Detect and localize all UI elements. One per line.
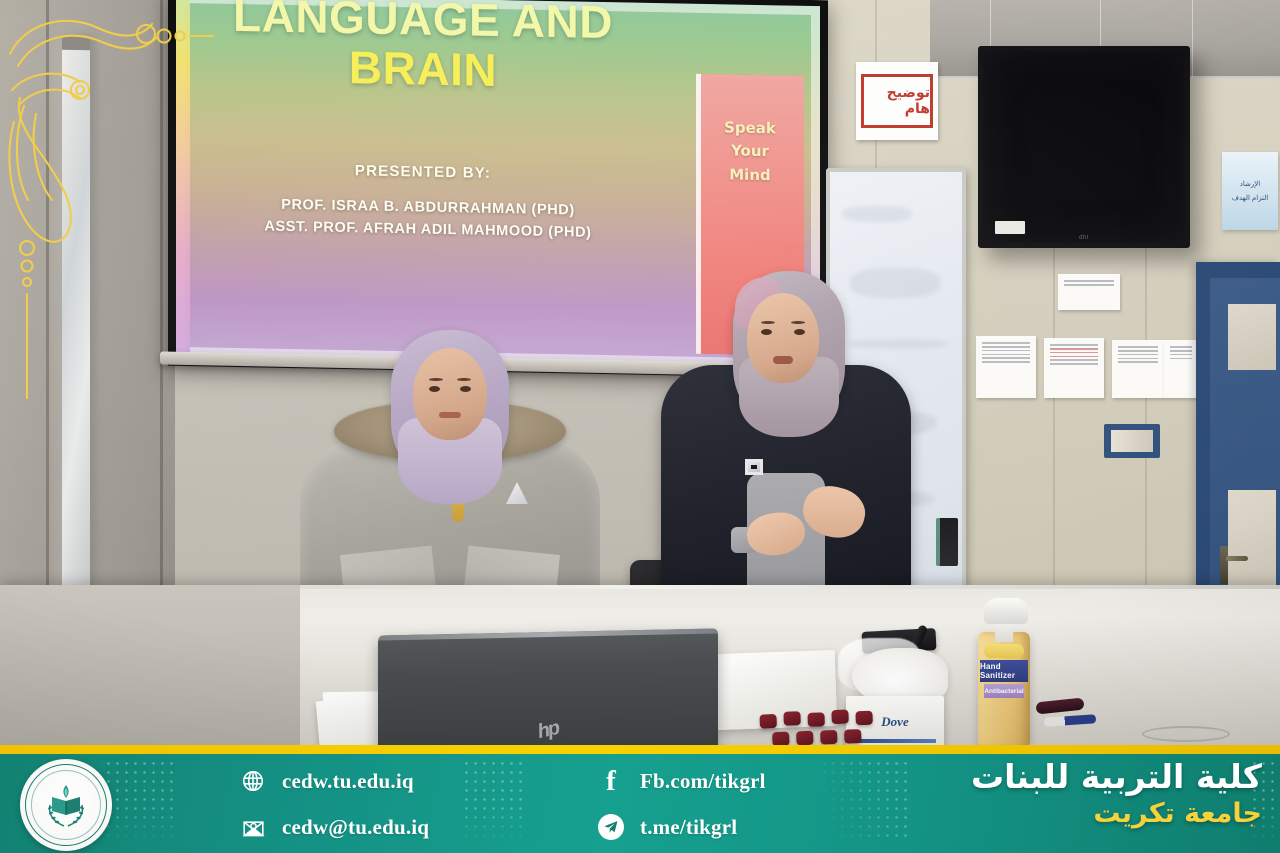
slide-tagline: Speak Your Mind xyxy=(700,116,800,188)
classroom-photo: LANGUAGE AND BRAIN PRESENTED BY: PROF. I… xyxy=(0,0,1280,745)
slide-title-line1: LANGUAGE AND xyxy=(233,0,613,48)
facebook-url[interactable]: Fb.com/tikgrl xyxy=(640,769,766,794)
door-upper-panel xyxy=(1228,304,1276,370)
wall-note xyxy=(1164,340,1198,398)
envelope-icon xyxy=(240,814,266,840)
footer-accent-rule xyxy=(0,745,1280,754)
screenshot-root: LANGUAGE AND BRAIN PRESENTED BY: PROF. I… xyxy=(0,0,1280,853)
door-handle[interactable] xyxy=(1220,546,1228,584)
wall-mounted-tv: dhl xyxy=(978,46,1190,248)
university-name-arabic: جامعة تكريت xyxy=(971,798,1262,830)
paper-plane-icon xyxy=(603,819,619,835)
contact-facebook-row[interactable]: f Fb.com/tikgrl xyxy=(598,763,766,799)
dot-pattern xyxy=(104,759,176,843)
footer-banner: cedw.tu.edu.iq cedw@tu.edu.iq f xyxy=(0,745,1280,853)
poster-line2: التزام الهدف xyxy=(1232,194,1269,202)
sanitizer-label-main: Hand Sanitizer xyxy=(980,660,1028,682)
wall-note xyxy=(1112,340,1164,398)
tagline-line2: Your xyxy=(700,139,800,164)
face xyxy=(747,293,819,383)
telegram-icon xyxy=(598,814,624,840)
contact-column-social: f Fb.com/tikgrl t.me/tikgrl xyxy=(598,763,766,845)
college-seal-logo xyxy=(20,759,112,851)
important-notice-sign: توضيح هام xyxy=(856,62,938,140)
slide-title: LANGUAGE AND BRAIN xyxy=(176,0,670,99)
globe-icon xyxy=(240,768,266,794)
telegram-url[interactable]: t.me/tikgrl xyxy=(640,815,737,840)
desk-plate xyxy=(1142,726,1230,742)
laptop[interactable]: hp xyxy=(378,628,718,745)
guidance-poster: الإرشاد التزام الهدف xyxy=(1222,152,1278,230)
contact-email-row[interactable]: cedw@tu.edu.iq xyxy=(240,809,429,845)
wall-vent xyxy=(1104,424,1160,458)
facebook-icon: f xyxy=(598,768,624,794)
tagline-line3: Mind xyxy=(700,162,800,187)
contact-telegram-row[interactable]: t.me/tikgrl xyxy=(598,809,766,845)
contact-website-row[interactable]: cedw.tu.edu.iq xyxy=(240,763,429,799)
wall-note xyxy=(1058,274,1120,310)
slide-presenter-names: PROF. ISRAA B. ABDURRAHMAN (PHD) ASST. P… xyxy=(176,192,680,247)
wall-note xyxy=(976,336,1036,398)
tv-sticker xyxy=(995,221,1025,234)
tv-brand-label: dhl xyxy=(1079,235,1089,241)
poster-line1: الإرشاد xyxy=(1240,180,1260,188)
slide-title-line2: BRAIN xyxy=(176,39,670,98)
light-fixture xyxy=(62,36,90,676)
laptop-brand-logo: hp xyxy=(536,717,561,744)
dot-pattern xyxy=(462,759,526,843)
sanitizer-label-sub: Antibacterial xyxy=(984,684,1024,698)
important-notice-text: توضيح هام xyxy=(864,85,930,117)
sanitizer-pump[interactable] xyxy=(984,598,1028,624)
face xyxy=(413,348,487,440)
contact-column-web: cedw.tu.edu.iq cedw@tu.edu.iq xyxy=(240,763,429,845)
slide-presented-by-label: PRESENTED BY: xyxy=(176,159,670,185)
website-url[interactable]: cedw.tu.edu.iq xyxy=(282,769,414,794)
marker-row xyxy=(759,703,910,745)
wall-note xyxy=(1044,338,1104,398)
institution-name-block: كلية التربية للبنات جامعة تكريت xyxy=(971,759,1262,831)
tagline-line1: Speak xyxy=(700,116,800,141)
sanitizer-label-accent xyxy=(984,644,1024,658)
hand-sanitizer-bottle[interactable]: Hand Sanitizer Antibacterial xyxy=(978,598,1030,745)
college-name-arabic: كلية التربية للبنات xyxy=(971,759,1262,795)
email-address[interactable]: cedw@tu.edu.iq xyxy=(282,815,429,840)
whiteboard-eraser[interactable] xyxy=(936,518,958,566)
dot-pattern xyxy=(820,759,910,843)
lapel-pin xyxy=(745,459,763,475)
